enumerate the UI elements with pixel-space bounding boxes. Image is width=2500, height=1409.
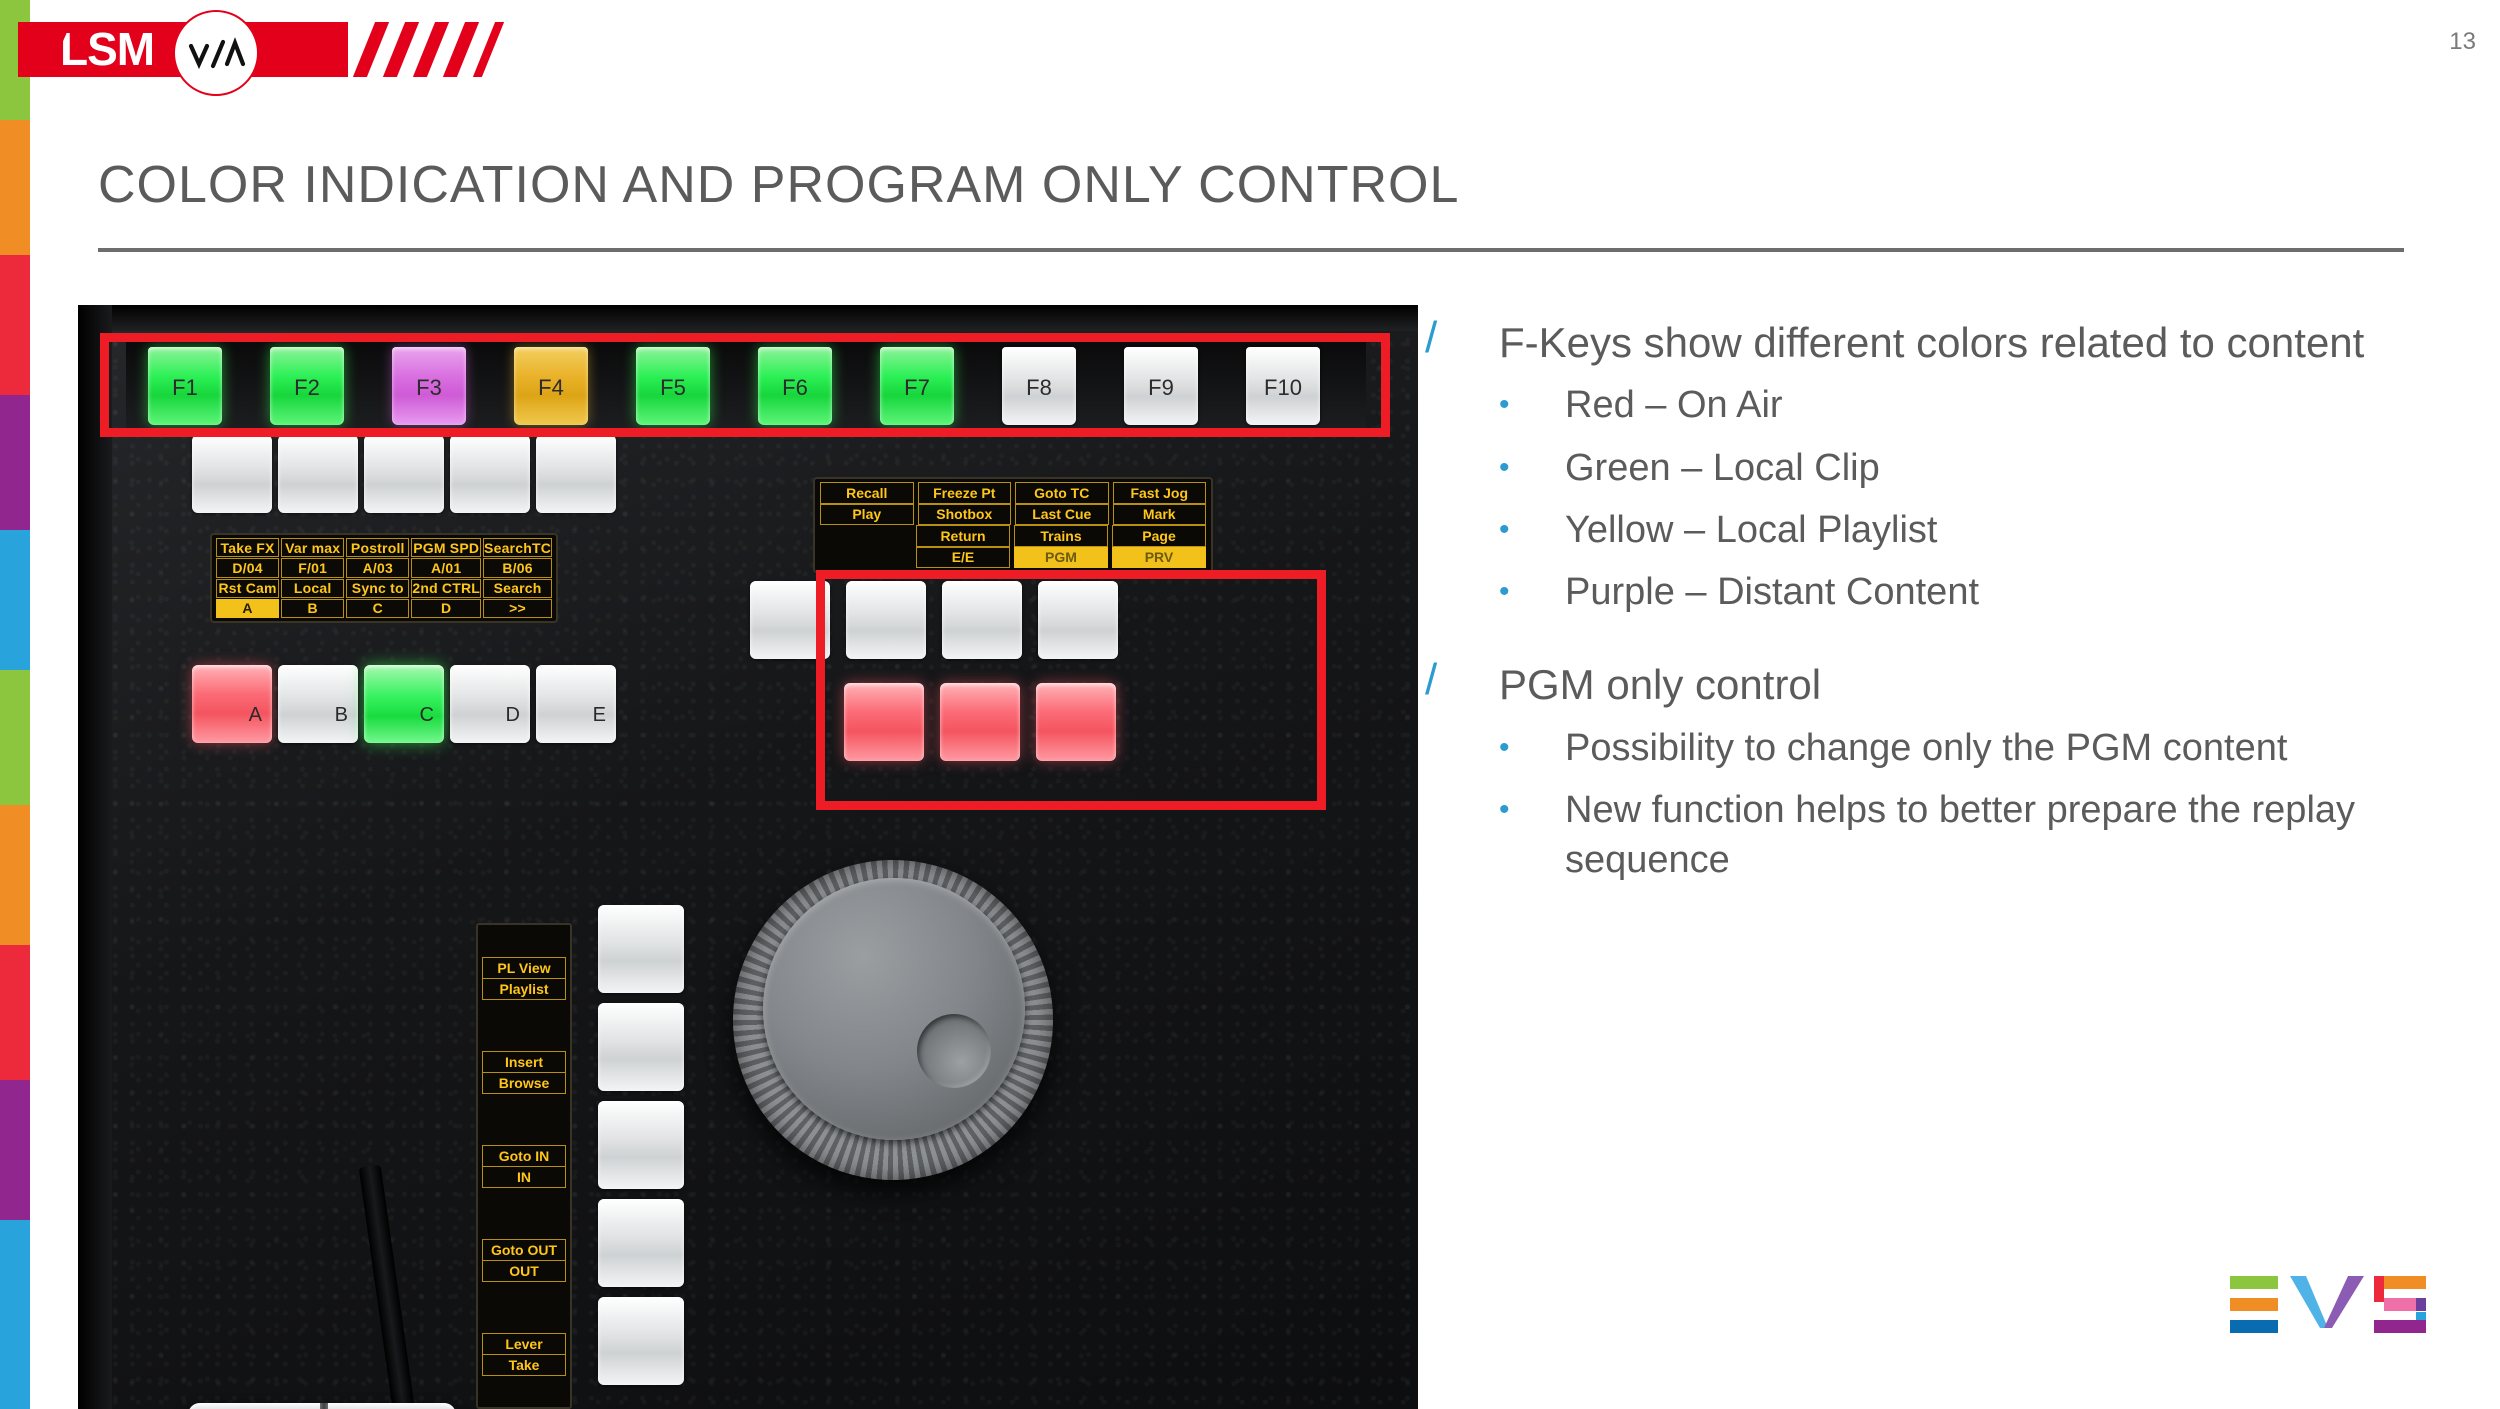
vertical-key-column xyxy=(598,905,688,1405)
plain-key-2[interactable] xyxy=(278,435,358,513)
lcd-right-matrix: RecallFreeze PtGoto TCFast JogPlayShotbo… xyxy=(813,477,1213,573)
vertical-key-4[interactable] xyxy=(598,1199,684,1287)
lcd-left-column-3: PGM SPDA/012nd CTRLD xyxy=(410,538,482,618)
lcd-right-cell-1-1[interactable]: Shotbox xyxy=(918,504,1012,526)
lcd-right-cell-3-0 xyxy=(820,547,912,569)
lcd-strip-cell-3-0[interactable]: Goto OUT xyxy=(483,1240,565,1260)
lcd-left-cell-0-1[interactable]: D/04 xyxy=(216,558,279,577)
color-stripe-3 xyxy=(0,395,30,530)
lever-knob[interactable] xyxy=(188,1403,456,1409)
lcd-left-cell-0-3[interactable]: A xyxy=(216,599,279,618)
lcd-strip-group-3: Goto OUTOUT xyxy=(482,1239,566,1282)
plain-key-5[interactable] xyxy=(536,435,616,513)
bullet-heading-text: F-Keys show different colors related to … xyxy=(1499,315,2419,370)
lcd-left-cell-3-1[interactable]: A/01 xyxy=(411,558,481,577)
bullet-heading-row-0: /F-Keys show different colors related to… xyxy=(1425,315,2435,370)
logo-slash-4 xyxy=(443,22,479,77)
lcd-strip-cell-0-1[interactable]: Playlist xyxy=(483,978,565,999)
bullet-text: Purple – Distant Content xyxy=(1565,567,2415,617)
lcd-left-column-0: Take FXD/04Rst CamA xyxy=(215,538,280,618)
lcd-right-cell-1-0[interactable]: Play xyxy=(820,504,914,526)
title-divider xyxy=(98,248,2404,252)
lcd-left-column-2: PostrollA/03Sync toC xyxy=(345,538,410,618)
lsm-via-logo: LSM xyxy=(18,10,518,90)
vertical-key-1[interactable] xyxy=(598,905,684,993)
letter-key-label: D xyxy=(506,704,520,727)
lcd-left-cell-1-2[interactable]: Local xyxy=(281,579,344,598)
lcd-right-cell-2-2[interactable]: Trains xyxy=(1014,525,1108,547)
panel-top-bezel xyxy=(78,305,1418,331)
color-stripe-5 xyxy=(0,670,30,805)
bullet-text: Possibility to change only the PGM conte… xyxy=(1565,723,2415,773)
letter-key-row: ABCDE xyxy=(192,665,612,749)
lcd-right-cell-2-0 xyxy=(820,525,912,547)
letter-key-label: B xyxy=(335,704,348,727)
letter-key-e[interactable]: E xyxy=(536,665,616,743)
lcd-right-cell-1-3[interactable]: Mark xyxy=(1113,504,1207,526)
color-stripe-1 xyxy=(0,120,30,255)
color-stripe-rail xyxy=(0,0,30,1409)
lcd-left-matrix: Take FXD/04Rst CamAVar maxF/01LocalBPost… xyxy=(210,533,558,623)
lcd-left-cell-1-1[interactable]: F/01 xyxy=(281,558,344,577)
vertical-key-2[interactable] xyxy=(598,1003,684,1091)
lcd-strip-cell-0-0[interactable]: PL View xyxy=(483,958,565,978)
list-item: •Purple – Distant Content xyxy=(1499,567,2435,617)
jog-wheel-dimple xyxy=(917,1014,991,1088)
lcd-right-row-3: E/EPGMPRV xyxy=(818,547,1208,569)
lcd-strip-cell-1-0[interactable]: Insert xyxy=(483,1052,565,1072)
via-mark-icon xyxy=(173,10,259,96)
logo-slash-2 xyxy=(383,22,419,77)
lcd-left-cell-4-2[interactable]: Search xyxy=(483,579,552,598)
lcd-right-row-1: PlayShotboxLast CueMark xyxy=(818,504,1208,526)
bullet-sublist-1: •Possibility to change only the PGM cont… xyxy=(1499,723,2435,885)
letter-key-c[interactable]: C xyxy=(364,665,444,743)
lcd-strip-cell-2-1[interactable]: IN xyxy=(483,1166,565,1187)
slash-marker-icon: / xyxy=(1425,315,1499,361)
bullet-dot-icon: • xyxy=(1499,380,1565,430)
bullet-dot-icon: • xyxy=(1499,443,1565,493)
color-stripe-7 xyxy=(0,945,30,1080)
bullet-heading-text: PGM only control xyxy=(1499,657,2419,712)
lcd-strip-cell-2-0[interactable]: Goto IN xyxy=(483,1146,565,1166)
lcd-left-cell-1-3[interactable]: B xyxy=(281,599,344,618)
lcd-left-cell-0-2[interactable]: Rst Cam xyxy=(216,579,279,598)
lcd-left-cell-4-3[interactable]: >> xyxy=(483,599,552,618)
list-item: •Green – Local Clip xyxy=(1499,443,2435,493)
lcd-strip-cell-1-1[interactable]: Browse xyxy=(483,1072,565,1093)
lcd-right-cell-3-2[interactable]: PGM xyxy=(1014,547,1108,569)
bullet-text: Yellow – Local Playlist xyxy=(1565,505,2415,555)
color-stripe-2 xyxy=(0,255,30,395)
lcd-right-cell-2-1[interactable]: Return xyxy=(916,525,1010,547)
logo-slash-1 xyxy=(353,22,389,77)
lcd-left-cell-2-0[interactable]: Postroll xyxy=(346,538,409,557)
page-number: 13 xyxy=(2449,28,2476,56)
lcd-left-cell-3-2[interactable]: 2nd CTRL xyxy=(411,579,481,598)
lcd-right-cell-3-3[interactable]: PRV xyxy=(1112,547,1206,569)
plain-key-1[interactable] xyxy=(192,435,272,513)
lcd-left-cell-3-0[interactable]: PGM SPD xyxy=(411,538,481,557)
lcd-left-cell-4-0[interactable]: SearchTC xyxy=(483,538,552,557)
lever-slot xyxy=(359,1165,416,1409)
color-stripe-4 xyxy=(0,530,30,670)
bullet-group-1: /PGM only control•Possibility to change … xyxy=(1425,657,2435,885)
vertical-key-5[interactable] xyxy=(598,1297,684,1385)
color-stripe-6 xyxy=(0,805,30,945)
bullet-text: New function helps to better prepare the… xyxy=(1565,785,2415,885)
lcd-right-cell-0-3[interactable]: Fast Jog xyxy=(1113,482,1207,504)
letter-key-label: A xyxy=(249,704,262,727)
lcd-left-column-1: Var maxF/01LocalB xyxy=(280,538,345,618)
list-item: •New function helps to better prepare th… xyxy=(1499,785,2435,885)
plain-key-4[interactable] xyxy=(450,435,530,513)
lcd-right-cell-3-1[interactable]: E/E xyxy=(916,547,1010,569)
lcd-left-cell-2-1[interactable]: A/03 xyxy=(346,558,409,577)
list-item: •Red – On Air xyxy=(1499,380,2435,430)
slash-marker-icon: / xyxy=(1425,657,1499,703)
bullet-heading-row-1: /PGM only control xyxy=(1425,657,2435,712)
letter-key-label: E xyxy=(593,704,606,727)
list-item: •Yellow – Local Playlist xyxy=(1499,505,2435,555)
bullet-dot-icon: • xyxy=(1499,785,1565,835)
color-stripe-9 xyxy=(0,1220,30,1409)
jog-wheel-face xyxy=(763,878,1025,1140)
logo-slash-5 xyxy=(473,22,504,77)
lcd-strip-cell-4-0[interactable]: Lever xyxy=(483,1334,565,1354)
lcd-left-cell-1-0[interactable]: Var max xyxy=(281,538,344,557)
plain-key-3[interactable] xyxy=(364,435,444,513)
lcd-vertical-strip: PL ViewPlaylistInsertBrowseGoto ININGoto… xyxy=(476,923,572,1409)
lcd-right-cell-0-2[interactable]: Goto TC xyxy=(1015,482,1109,504)
list-item: •Possibility to change only the PGM cont… xyxy=(1499,723,2435,773)
bullet-text: Red – On Air xyxy=(1565,380,2415,430)
jog-wheel[interactable] xyxy=(733,860,1053,1180)
vertical-key-3[interactable] xyxy=(598,1101,684,1189)
lcd-strip-group-1: InsertBrowse xyxy=(482,1051,566,1094)
lcd-left-column-4: SearchTCB/06Search>> xyxy=(482,538,553,618)
lever-knob-seam xyxy=(320,1403,328,1409)
logo-slash-3 xyxy=(413,22,449,77)
lcd-right-cell-1-2[interactable]: Last Cue xyxy=(1015,504,1109,526)
lcd-right-row-2: ReturnTrainsPage xyxy=(818,525,1208,547)
lcd-strip-cell-3-1[interactable]: OUT xyxy=(483,1260,565,1281)
lcd-strip-group-4: LeverTake xyxy=(482,1333,566,1376)
evs-logo-icon xyxy=(2228,1268,2428,1348)
bullet-group-0: /F-Keys show different colors related to… xyxy=(1425,315,2435,617)
fkeys-highlight-box xyxy=(100,333,1390,437)
color-stripe-8 xyxy=(0,1080,30,1220)
bullet-text: Green – Local Clip xyxy=(1565,443,2415,493)
lcd-strip-group-2: Goto ININ xyxy=(482,1145,566,1188)
bullet-dot-icon: • xyxy=(1499,723,1565,773)
lcd-left-cell-2-3[interactable]: C xyxy=(346,599,409,618)
lcd-strip-group-0: PL ViewPlaylist xyxy=(482,957,566,1000)
bullet-dot-icon: • xyxy=(1499,505,1565,555)
letter-key-label: C xyxy=(420,704,434,727)
lcd-right-cell-2-3[interactable]: Page xyxy=(1112,525,1206,547)
letter-key-a[interactable]: A xyxy=(192,665,272,743)
panel-left-wall xyxy=(78,305,112,1409)
lcd-right-cell-0-1[interactable]: Freeze Pt xyxy=(918,482,1012,504)
lcd-left-cell-4-1[interactable]: B/06 xyxy=(483,558,552,577)
lcd-right-row-0: RecallFreeze PtGoto TCFast Jog xyxy=(818,482,1208,504)
lcd-left-cell-3-3[interactable]: D xyxy=(411,599,481,618)
lcd-left-cell-0-0[interactable]: Take FX xyxy=(216,538,279,557)
bullet-dot-icon: • xyxy=(1499,567,1565,617)
lcd-right-cell-0-0[interactable]: Recall xyxy=(820,482,914,504)
page-title: COLOR INDICATION AND PROGRAM ONLY CONTRO… xyxy=(98,155,1459,215)
pgm-keys-highlight-box xyxy=(816,570,1326,810)
lcd-left-cell-2-2[interactable]: Sync to xyxy=(346,579,409,598)
logo-lsm-text: LSM xyxy=(60,22,154,77)
lcd-strip-cell-4-1[interactable]: Take xyxy=(483,1354,565,1375)
letter-key-d[interactable]: D xyxy=(450,665,530,743)
plain-key-row xyxy=(192,435,612,519)
bullet-content-column: /F-Keys show different colors related to… xyxy=(1425,315,2435,925)
bullet-sublist-0: •Red – On Air•Green – Local Clip•Yellow … xyxy=(1499,380,2435,617)
lsm-via-control-panel-photo: F1F2F3F4F5F6F7F8F9F10 Take FXD/04Rst Cam… xyxy=(78,305,1418,1409)
letter-key-b[interactable]: B xyxy=(278,665,358,743)
